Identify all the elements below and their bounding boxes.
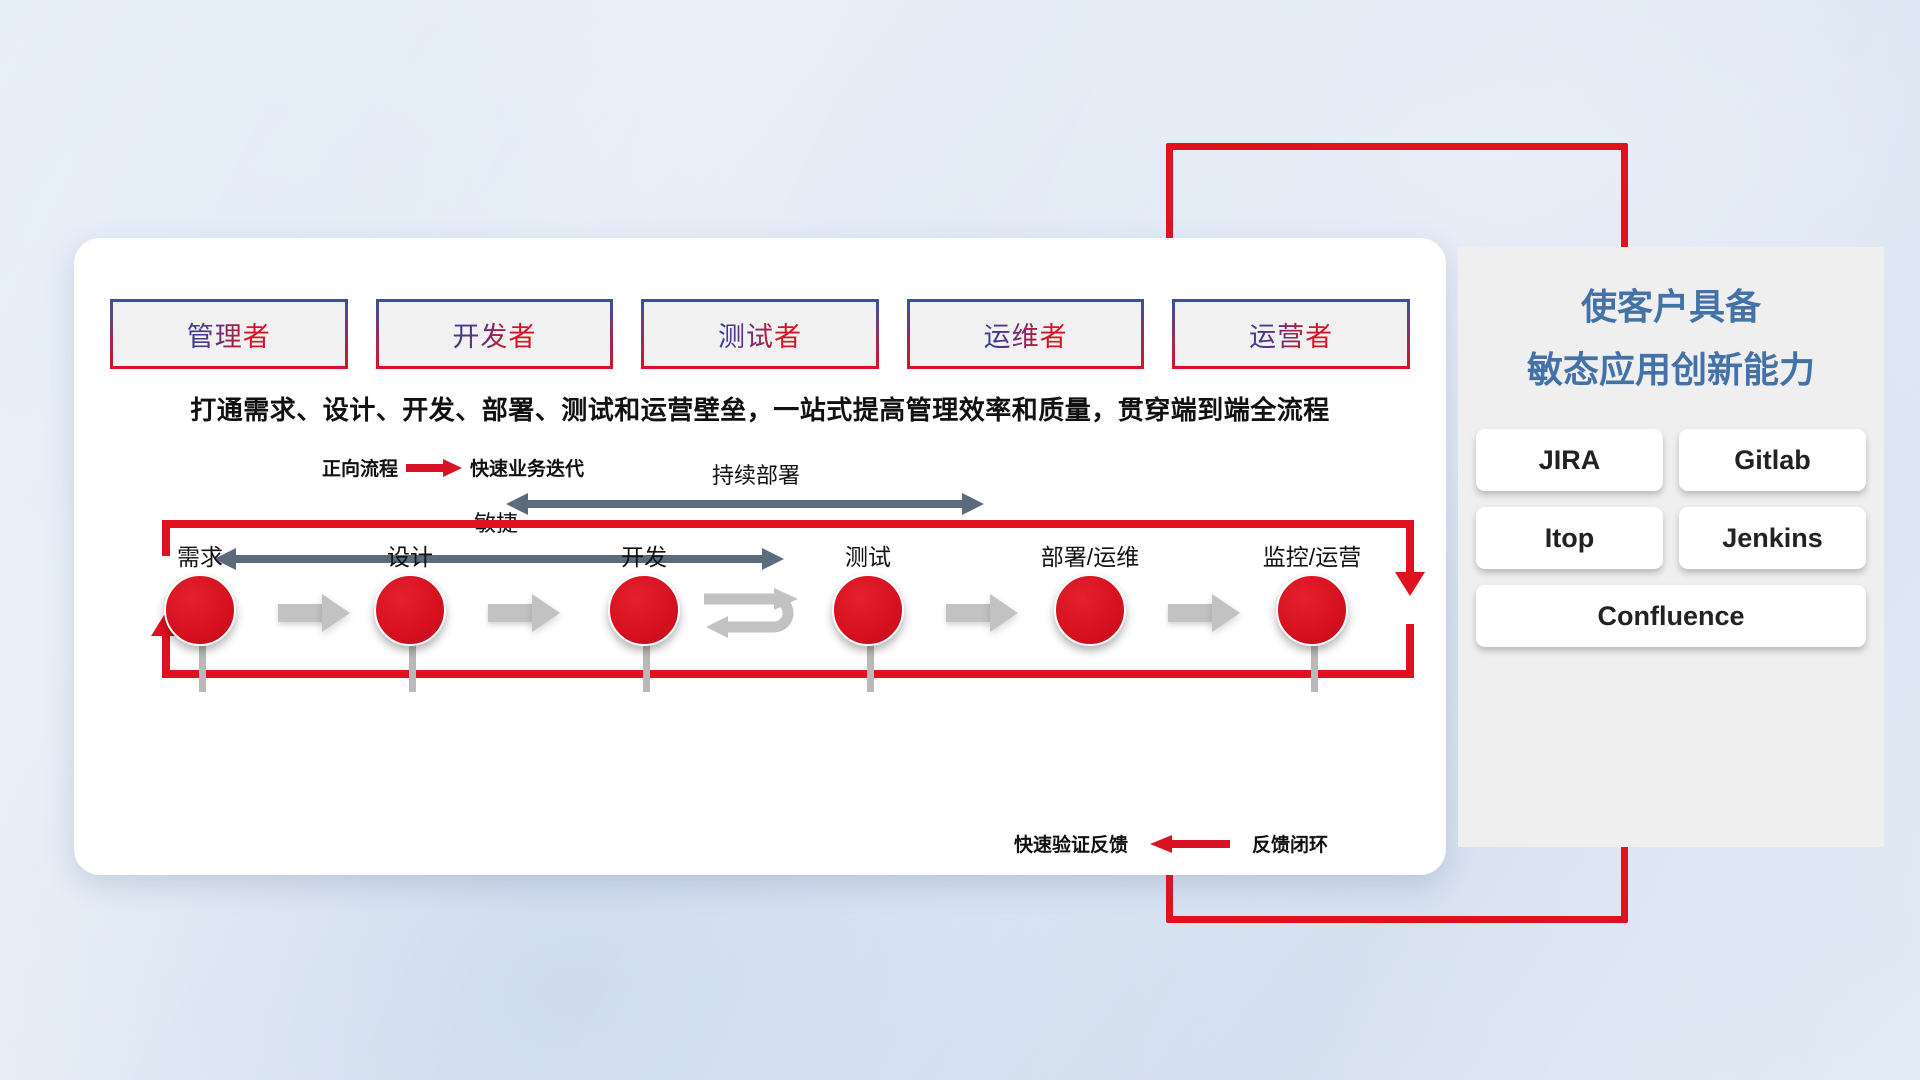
tool-button-jenkins[interactable]: Jenkins — [1679, 507, 1866, 569]
role-border-right — [1407, 299, 1410, 369]
tool-button-itop[interactable]: Itop — [1476, 507, 1663, 569]
flow-arrow-1-icon — [278, 594, 350, 632]
role-box-row: 管理者 开发者 测试者 运维者 运营者 — [110, 299, 1410, 369]
span-arrow-continuous-deployment — [506, 493, 984, 515]
pipeline-node-label: 部署/运维 — [1041, 538, 1139, 572]
legend-feedback-to-label: 快速验证反馈 — [1014, 830, 1128, 857]
role-border-top — [907, 299, 1145, 302]
flow-arrow-2-icon — [488, 594, 560, 632]
role-border-left — [110, 299, 113, 369]
flow-arrow-3-icon — [946, 594, 1018, 632]
span-arrow-label-cd: 持续部署 — [712, 458, 800, 490]
role-border-top — [376, 299, 614, 302]
role-border-bottom — [376, 366, 614, 369]
role-label: 开发者 — [452, 315, 536, 354]
red-arrow-right-icon — [406, 459, 462, 477]
role-border-right — [610, 299, 613, 369]
role-border-bottom — [110, 366, 348, 369]
flow-arrow-4-icon — [1168, 594, 1240, 632]
tool-button-jira[interactable]: JIRA — [1476, 429, 1663, 491]
main-white-card: 管理者 开发者 测试者 运维者 运营者 — [74, 238, 1446, 875]
role-box-developer[interactable]: 开发者 — [376, 299, 614, 369]
legend-feedback-from-label: 反馈闭环 — [1252, 830, 1328, 857]
pipeline-node-dot — [608, 574, 680, 646]
role-label: 管理者 — [187, 315, 271, 354]
tool-button-confluence[interactable]: Confluence — [1476, 585, 1866, 647]
role-border-right — [876, 299, 879, 369]
pipeline-node-dot — [1054, 574, 1126, 646]
pipeline-node-label: 开发 — [621, 538, 667, 572]
pipeline-node-label: 测试 — [845, 538, 891, 572]
role-box-operator[interactable]: 运营者 — [1172, 299, 1410, 369]
tagline-text: 打通需求、设计、开发、部署、测试和运营壁垒，一站式提高管理效率和质量，贯穿端到端… — [74, 390, 1446, 427]
panel-title: 使客户具备 敏态应用创新能力 — [1458, 247, 1884, 395]
pipeline-node-dot — [374, 574, 446, 646]
role-border-right — [1141, 299, 1144, 369]
panel-title-line2: 敏态应用创新能力 — [1468, 344, 1874, 395]
role-border-right — [345, 299, 348, 369]
tool-button-gitlab[interactable]: Gitlab — [1679, 429, 1866, 491]
pipeline-row: 需求 设计 开发 测试 — [110, 538, 1410, 698]
legend-feedback-loop: 快速验证反馈 反馈闭环 — [1014, 830, 1328, 857]
red-loop-top-segment — [162, 520, 1414, 528]
legend-forward-flow: 正向流程 快速业务迭代 — [322, 454, 584, 481]
role-box-ops[interactable]: 运维者 — [907, 299, 1145, 369]
red-arrow-left-icon — [1150, 835, 1230, 853]
role-border-bottom — [641, 366, 879, 369]
role-box-tester[interactable]: 测试者 — [641, 299, 879, 369]
pipeline-node-label: 监控/运营 — [1263, 538, 1361, 572]
panel-title-line1: 使客户具备 — [1468, 281, 1874, 332]
role-border-bottom — [907, 366, 1145, 369]
legend-forward-to-label: 快速业务迭代 — [470, 454, 584, 481]
role-border-left — [907, 299, 910, 369]
role-border-left — [641, 299, 644, 369]
pipeline-node-label: 设计 — [387, 538, 433, 572]
role-border-top — [641, 299, 879, 302]
value-proposition-panel: 使客户具备 敏态应用创新能力 JIRA Gitlab Itop Jenkins … — [1458, 247, 1884, 847]
pipeline-node-dot — [164, 574, 236, 646]
role-border-left — [376, 299, 379, 369]
dev-test-loop-arrow-icon — [702, 582, 810, 644]
role-border-bottom — [1172, 366, 1410, 369]
role-label: 测试者 — [718, 315, 802, 354]
role-box-manager[interactable]: 管理者 — [110, 299, 348, 369]
role-label: 运维者 — [984, 315, 1068, 354]
pipeline-node-dot — [832, 574, 904, 646]
role-border-top — [110, 299, 348, 302]
pipeline-node-label: 需求 — [177, 538, 223, 572]
pipeline-node-dot — [1276, 574, 1348, 646]
role-border-top — [1172, 299, 1410, 302]
role-border-left — [1172, 299, 1175, 369]
role-label: 运营者 — [1249, 315, 1333, 354]
legend-forward-from-label: 正向流程 — [322, 454, 398, 481]
tool-button-grid: JIRA Gitlab Itop Jenkins Confluence — [1476, 429, 1866, 647]
